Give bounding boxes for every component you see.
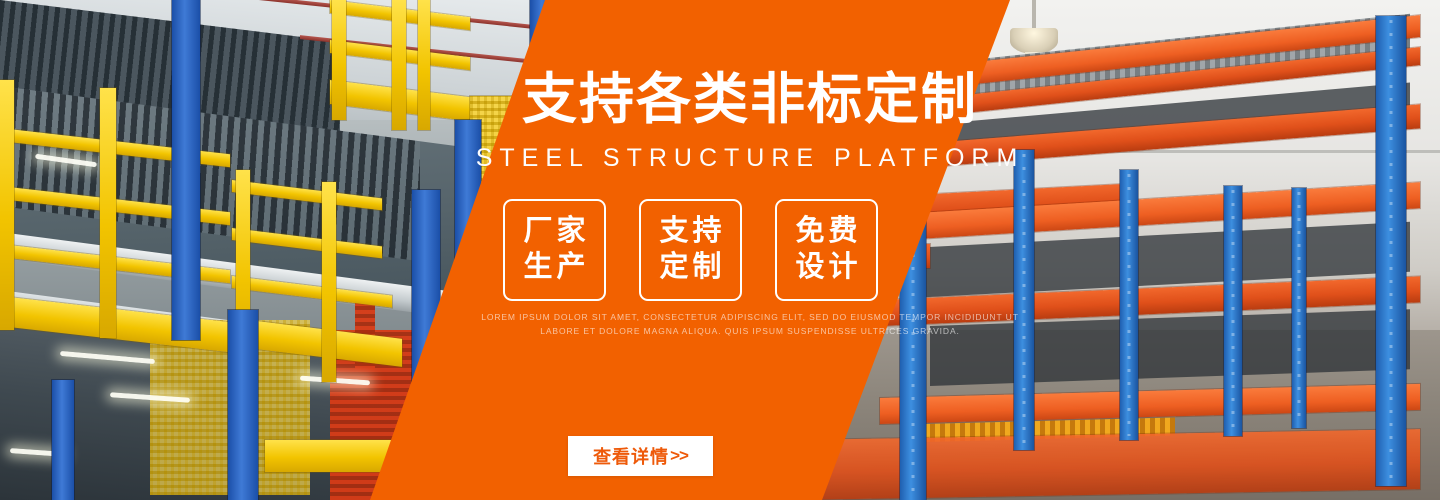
badge-line-2: 设计 [791,251,861,285]
badge-line-1: 免费 [791,215,861,249]
badge-manufacturer-production[interactable]: 厂家 生产 [503,199,606,301]
badge-line-2: 定制 [655,251,725,285]
double-chevron-right-icon: >> [670,446,688,466]
badge-free-design[interactable]: 免费 设计 [775,199,878,301]
badge-line-1: 厂家 [519,215,589,249]
page-title: 支持各类非标定制 [470,72,1030,127]
banner-content: 支持各类非标定制 STEEL STRUCTURE PLATFORM 厂家 生产 … [0,0,1440,500]
view-details-button[interactable]: 查看详情 >> [568,436,713,476]
badge-supports-customization[interactable]: 支持 定制 [639,199,742,301]
promotional-banner: 支持各类非标定制 STEEL STRUCTURE PLATFORM 厂家 生产 … [0,0,1440,500]
badge-line-1: 支持 [655,215,725,249]
cta-label: 查看详情 [593,443,669,469]
description-text: Lorem ipsum dolor sit amet, consectetur … [470,311,1030,339]
subtitle: STEEL STRUCTURE PLATFORM [470,143,1030,173]
feature-badge-group: 厂家 生产 支持 定制 免费 设计 [503,199,878,301]
badge-line-2: 生产 [519,251,589,285]
